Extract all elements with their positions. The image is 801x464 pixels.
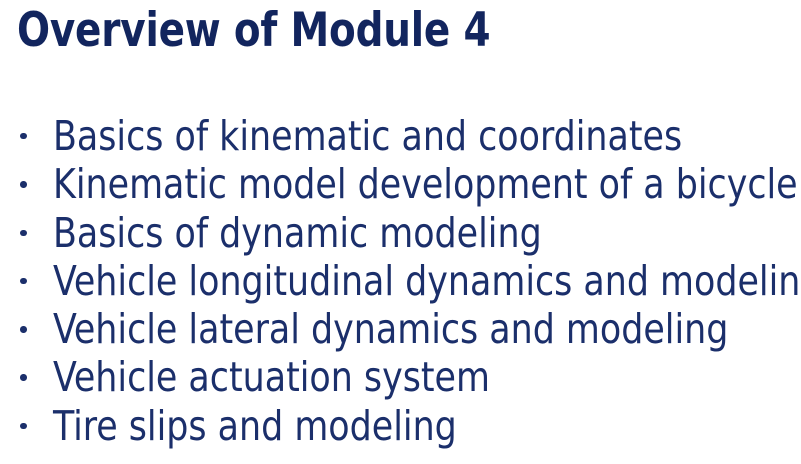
list-item-label: Vehicle actuation system bbox=[53, 353, 490, 401]
list-item-label: Vehicle longitudinal dynamics and modeli… bbox=[53, 257, 801, 305]
bullet-list: Basics of kinematic and coordinates Kine… bbox=[0, 112, 801, 450]
bullet-dot-icon bbox=[20, 374, 27, 381]
list-item: Kinematic model development of a bicycle bbox=[0, 160, 801, 208]
page-title: Overview of Module 4 bbox=[17, 4, 490, 58]
list-item: Vehicle actuation system bbox=[0, 353, 801, 401]
list-item-label: Kinematic model development of a bicycle bbox=[53, 160, 798, 208]
list-item: Vehicle lateral dynamics and modeling bbox=[0, 305, 801, 353]
list-item: Vehicle longitudinal dynamics and modeli… bbox=[0, 257, 801, 305]
bullet-dot-icon bbox=[20, 326, 27, 333]
bullet-dot-icon bbox=[20, 230, 27, 237]
list-item-label: Basics of dynamic modeling bbox=[53, 209, 542, 257]
list-item: Tire slips and modeling bbox=[0, 402, 801, 450]
list-item: Basics of kinematic and coordinates bbox=[0, 112, 801, 160]
list-item-label: Basics of kinematic and coordinates bbox=[53, 112, 682, 160]
bullet-dot-icon bbox=[20, 181, 27, 188]
list-item-label: Tire slips and modeling bbox=[53, 402, 457, 450]
list-item-label: Vehicle lateral dynamics and modeling bbox=[53, 305, 728, 353]
bullet-dot-icon bbox=[20, 423, 27, 430]
list-item: Basics of dynamic modeling bbox=[0, 209, 801, 257]
slide-canvas: Overview of Module 4 Basics of kinematic… bbox=[0, 0, 801, 464]
bullet-dot-icon bbox=[20, 133, 27, 140]
bullet-dot-icon bbox=[20, 278, 27, 285]
